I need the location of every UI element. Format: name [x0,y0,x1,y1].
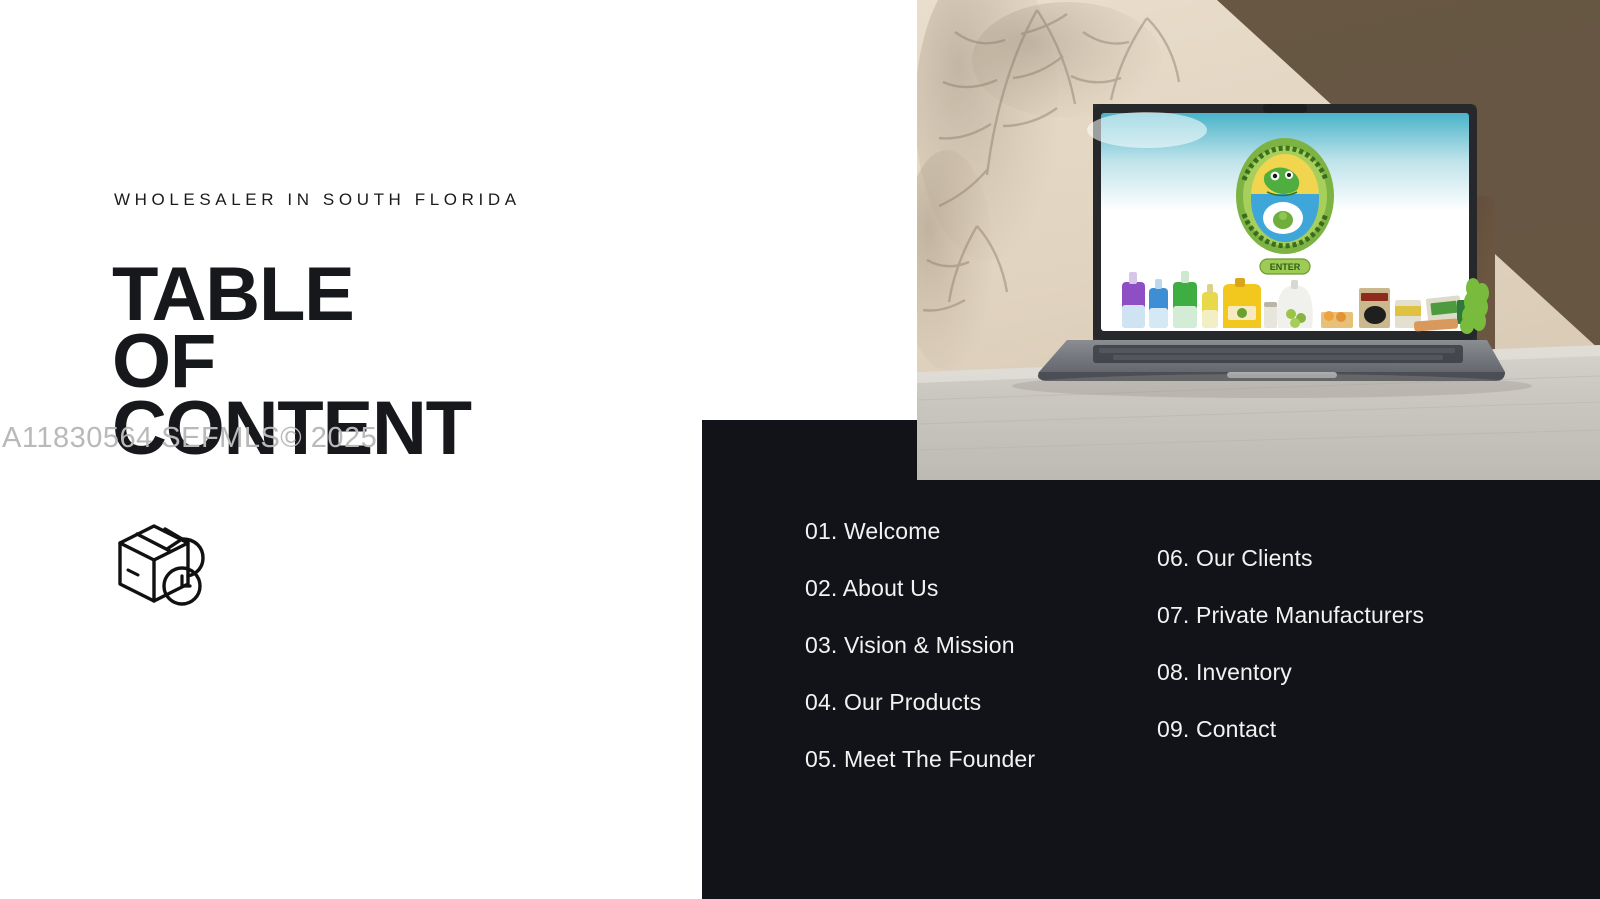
toc-item-05[interactable]: 05. Meet The Founder [805,746,1035,773]
toc-item-07[interactable]: 07. Private Manufacturers [1157,602,1424,629]
toc-column-right: 06. Our Clients 07. Private Manufacturer… [1157,545,1424,743]
toc-item-03[interactable]: 03. Vision & Mission [805,632,1035,659]
toc-item-09[interactable]: 09. Contact [1157,716,1424,743]
toc-item-01[interactable]: 01. Welcome [805,518,1035,545]
laptop-photo: ENTER [917,0,1600,480]
svg-text:ENTER: ENTER [1270,262,1301,272]
toc-item-06[interactable]: 06. Our Clients [1157,545,1424,572]
page-title-line-3: CONTENT [112,396,632,463]
toc-column-left: 01. Welcome 02. About Us 03. Vision & Mi… [805,518,1035,773]
slide-root: WHOLESALER IN SOUTH FLORIDA TABLE OF CON… [0,0,1600,899]
eyebrow-text: WHOLESALER IN SOUTH FLORIDA [114,190,521,210]
page-title: TABLE OF CONTENT [112,262,632,463]
toc-item-02[interactable]: 02. About Us [805,575,1035,602]
enter-button[interactable]: ENTER [1260,259,1310,274]
laptop-photo-illustration: ENTER [917,0,1600,480]
table-of-content-panel: 01. Welcome 02. About Us 03. Vision & Mi… [702,420,1600,899]
toc-item-04[interactable]: 04. Our Products [805,689,1035,716]
package-return-clock-icon [110,512,214,610]
toc-item-08[interactable]: 08. Inventory [1157,659,1424,686]
